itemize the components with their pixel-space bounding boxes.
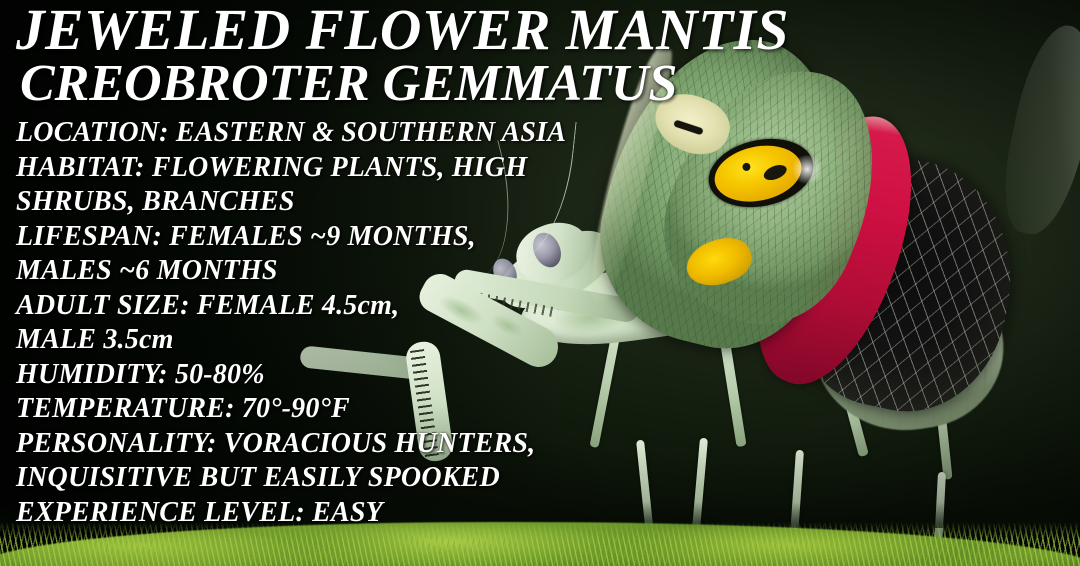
mantis-care-card: JEWELED FLOWER MANTIS CREOBROTER GEMMATU… bbox=[0, 0, 1080, 566]
page-title: JEWELED FLOWER MANTIS bbox=[14, 0, 1069, 58]
care-fact-line: HABITAT: FLOWERING PLANTS, HIGH bbox=[16, 151, 1080, 186]
care-fact-line: ADULT SIZE: FEMALE 4.5cm, bbox=[16, 289, 1080, 324]
text-overlay: JEWELED FLOWER MANTIS CREOBROTER GEMMATU… bbox=[0, 0, 1080, 566]
care-fact-line: TEMPERATURE: 70°-90°F bbox=[16, 392, 1080, 427]
care-fact-list: LOCATION: EASTERN & SOUTHERN ASIA HABITA… bbox=[14, 116, 1080, 530]
care-fact-line: PERSONALITY: VORACIOUS HUNTERS, bbox=[16, 427, 1080, 462]
care-fact-line: MALE 3.5cm bbox=[16, 323, 1080, 358]
species-subtitle: CREOBROTER GEMMATUS bbox=[14, 58, 1080, 110]
care-fact-line: SHRUBS, BRANCHES bbox=[16, 185, 1080, 220]
care-fact-line: HUMIDITY: 50-80% bbox=[16, 358, 1080, 393]
care-fact-line: EXPERIENCE LEVEL: EASY bbox=[16, 496, 1080, 531]
title-block: JEWELED FLOWER MANTIS CREOBROTER GEMMATU… bbox=[14, 0, 1080, 110]
care-fact-line: LOCATION: EASTERN & SOUTHERN ASIA bbox=[16, 116, 1080, 151]
care-fact-line: LIFESPAN: FEMALES ~9 MONTHS, bbox=[16, 220, 1080, 255]
care-fact-line: INQUISITIVE BUT EASILY SPOOKED bbox=[16, 461, 1080, 496]
care-fact-line: MALES ~6 MONTHS bbox=[16, 254, 1080, 289]
